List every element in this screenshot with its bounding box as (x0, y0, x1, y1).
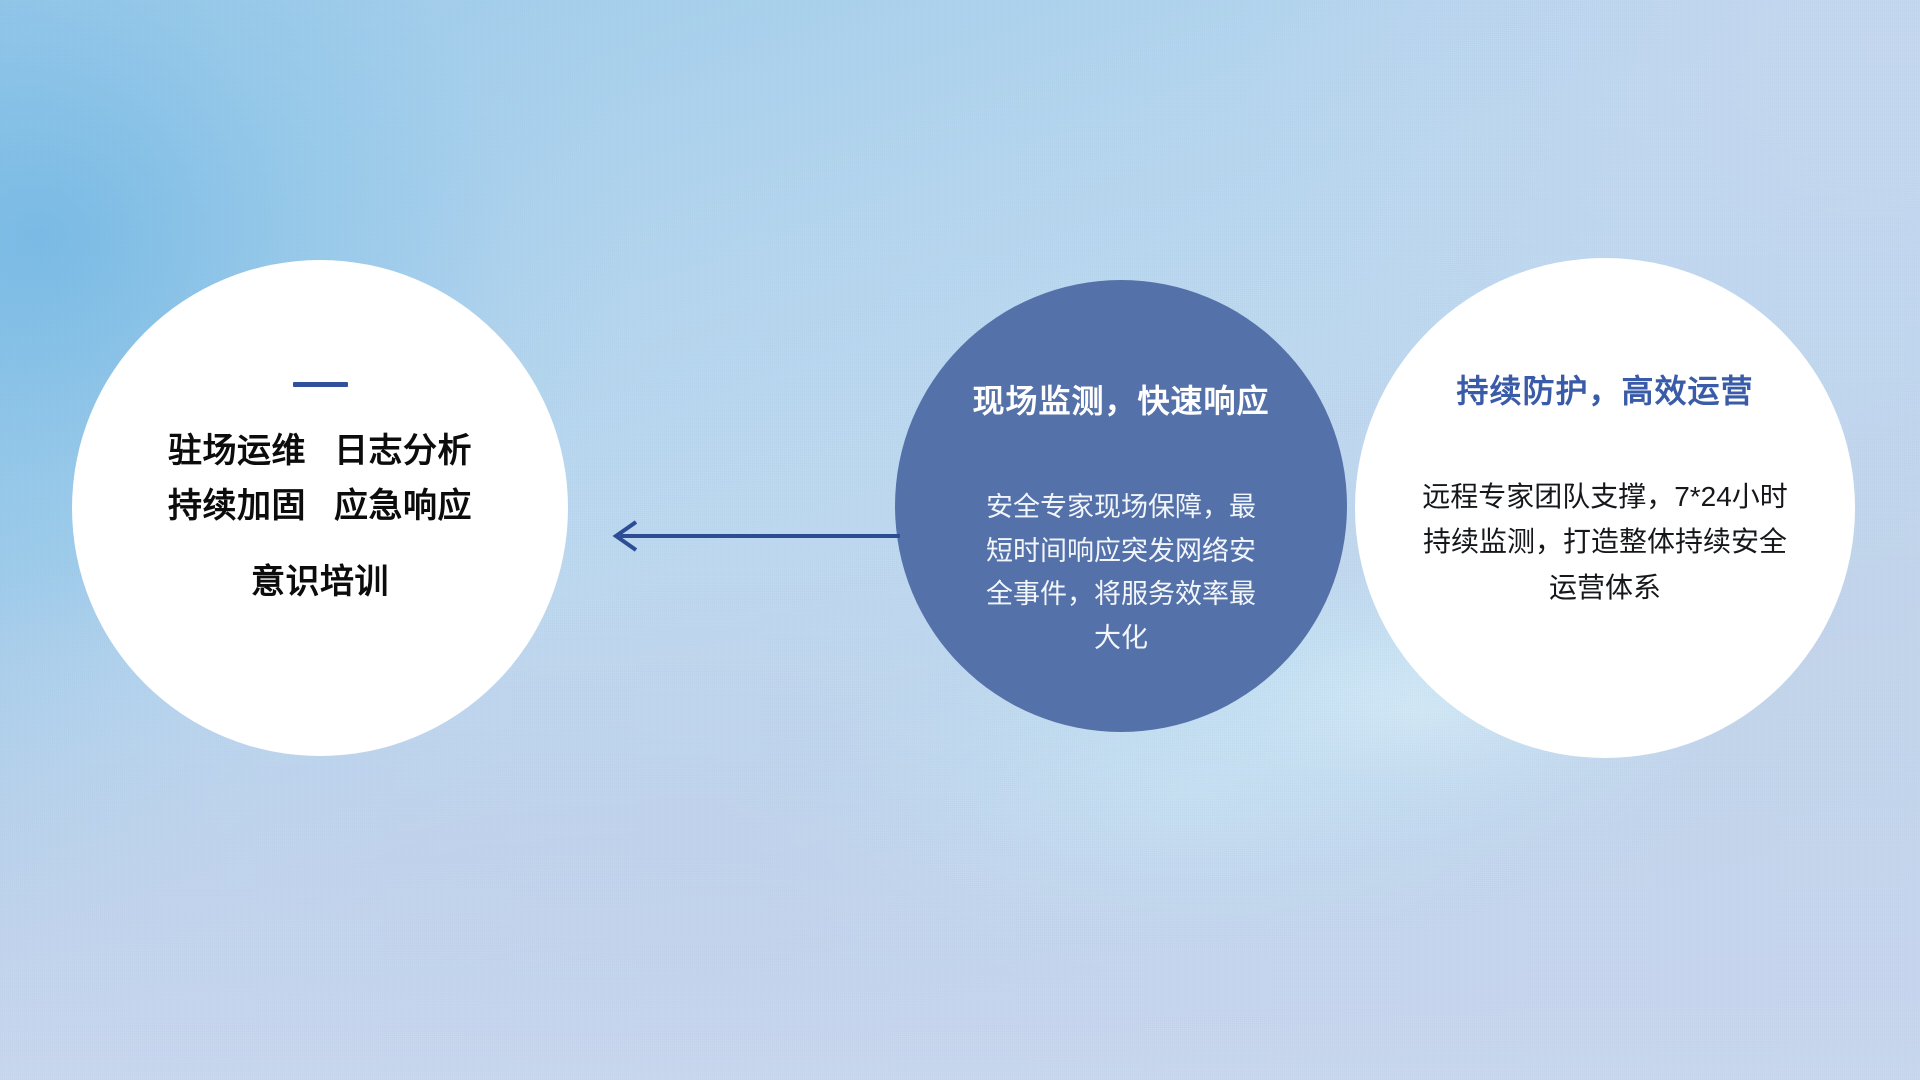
capability-keyword: 持续加固 (168, 482, 306, 530)
continuous-protection-title: 持续防护，高效运营 (1456, 366, 1753, 412)
capability-row: 驻场运维 日志分析 (168, 427, 472, 475)
accent-dash-icon (293, 382, 348, 387)
capability-keyword: 意识培训 (251, 558, 389, 606)
capability-keyword: 日志分析 (334, 427, 472, 475)
onsite-monitoring-content: 现场监测，快速响应 安全专家现场保障，最短时间响应突发网络安全事件，将服务效率最… (895, 280, 1347, 732)
arrow-left-icon (600, 512, 900, 560)
capability-keyword: 驻场运维 (168, 427, 306, 475)
flow-arrow-left (600, 512, 900, 560)
capability-keyword: 应急响应 (334, 482, 472, 530)
capabilities-content: 驻场运维 日志分析 持续加固 应急响应 意识培训 (72, 260, 568, 756)
capability-keyword-list: 驻场运维 日志分析 持续加固 应急响应 意识培训 (168, 427, 472, 606)
circle-card-continuous-protection[interactable]: 持续防护，高效运营 远程专家团队支撑，7*24小时持续监测，打造整体持续安全运营… (1355, 258, 1855, 758)
onsite-monitoring-title: 现场监测，快速响应 (972, 376, 1269, 422)
circle-card-onsite-monitoring[interactable]: 现场监测，快速响应 安全专家现场保障，最短时间响应突发网络安全事件，将服务效率最… (895, 280, 1347, 732)
capability-row: 意识培训 (251, 558, 389, 606)
onsite-monitoring-body: 安全专家现场保障，最短时间响应突发网络安全事件，将服务效率最大化 (976, 486, 1266, 661)
capability-row: 持续加固 应急响应 (168, 482, 472, 530)
continuous-protection-content: 持续防护，高效运营 远程专家团队支撑，7*24小时持续监测，打造整体持续安全运营… (1355, 258, 1855, 758)
continuous-protection-body: 远程专家团队支撑，7*24小时持续监测，打造整体持续安全运营体系 (1414, 474, 1796, 610)
slide-canvas: 驻场运维 日志分析 持续加固 应急响应 意识培训 现场监测，快速响应 安全专家现… (0, 0, 1920, 1080)
circle-card-capabilities[interactable]: 驻场运维 日志分析 持续加固 应急响应 意识培训 (72, 260, 568, 756)
